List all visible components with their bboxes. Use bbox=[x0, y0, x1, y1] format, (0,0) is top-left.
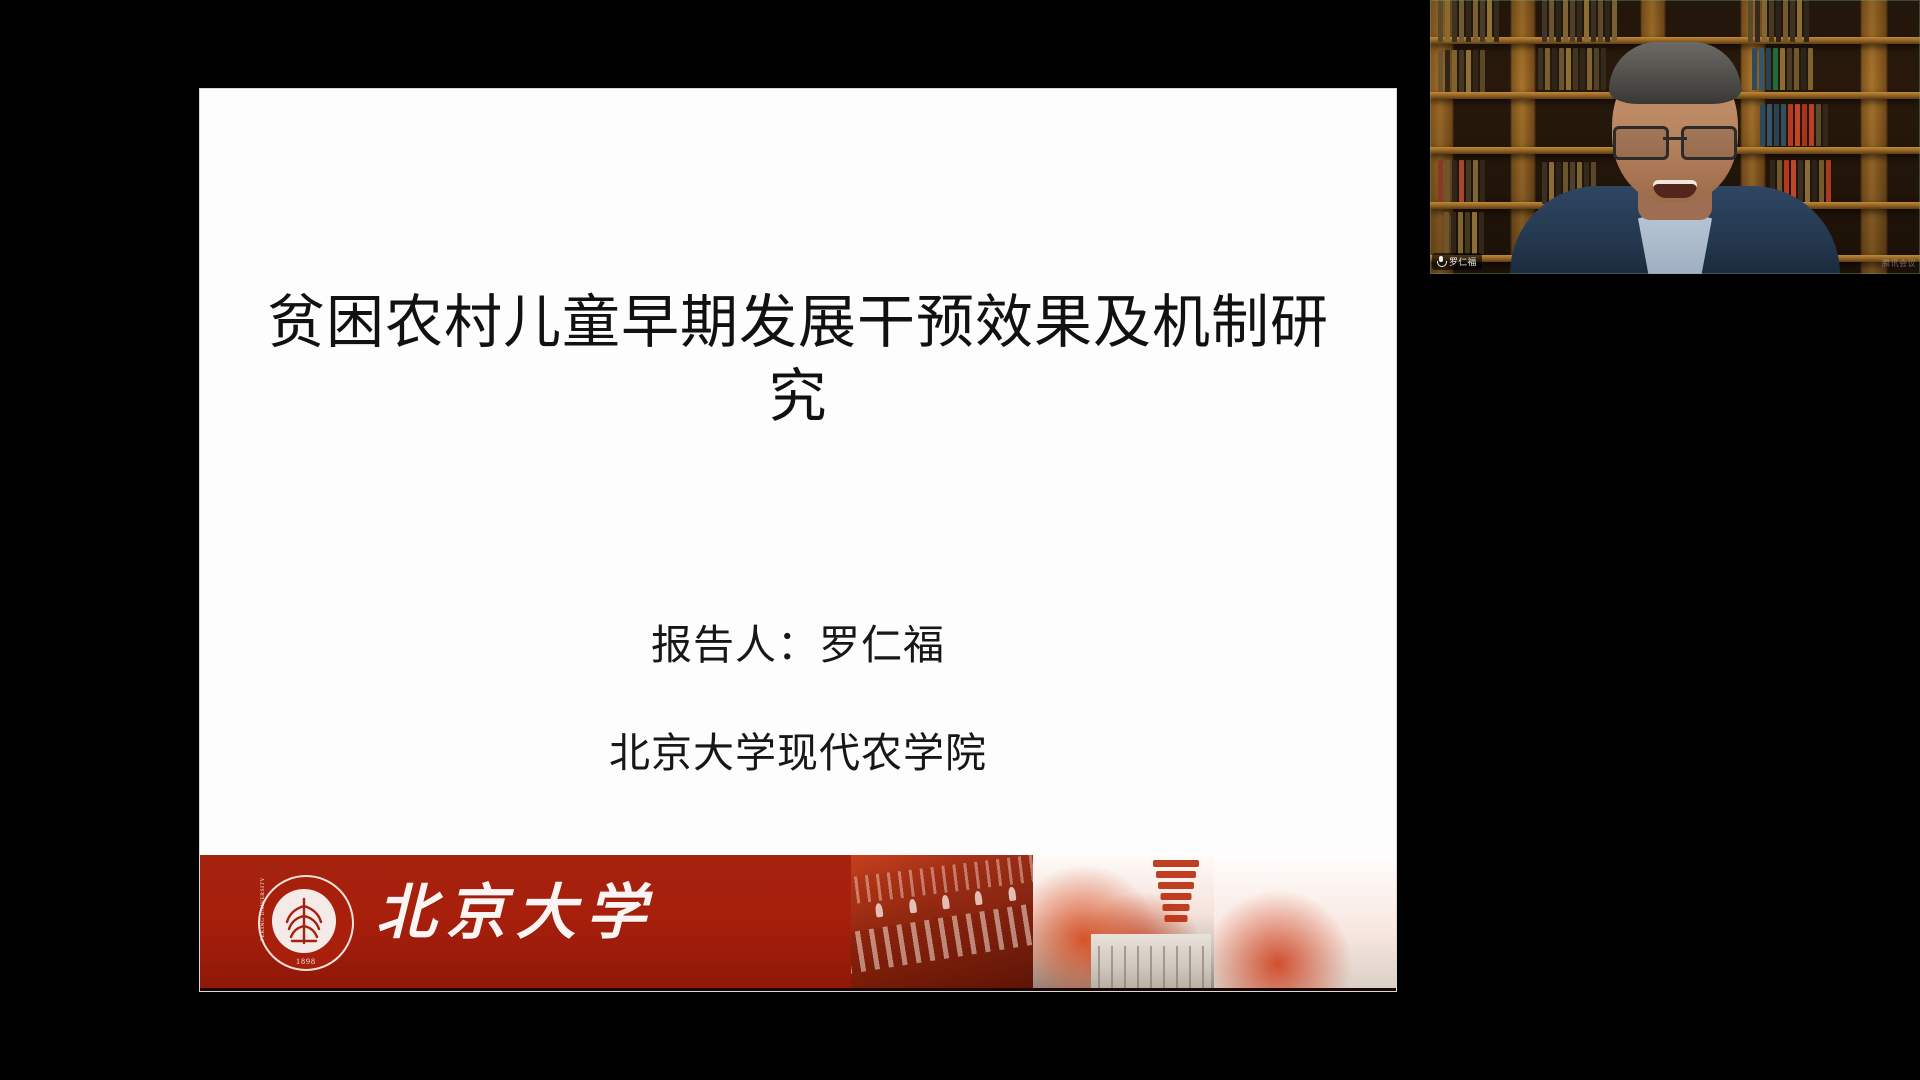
participant-name-label: 罗仁福 bbox=[1449, 255, 1477, 268]
book-row bbox=[1542, 0, 1638, 42]
book-row bbox=[1748, 0, 1836, 42]
slide-bottom-rule bbox=[200, 988, 1396, 991]
eyeglasses-icon bbox=[1613, 126, 1737, 156]
footer-photo-autumn-pagoda bbox=[1033, 855, 1215, 991]
microphone-icon bbox=[1437, 256, 1445, 267]
shared-slide[interactable]: 贫困农村儿童早期发展干预效果及机制研究 报告人：罗仁福 北京大学现代农学院 bbox=[200, 89, 1396, 991]
participant-video-thumbnail[interactable]: 罗仁福 腾讯会议 bbox=[1430, 0, 1920, 274]
book-row bbox=[1438, 50, 1504, 92]
participant-hair bbox=[1609, 42, 1741, 104]
book-row bbox=[1438, 160, 1504, 202]
participant-nametag: 罗仁福 bbox=[1432, 253, 1482, 270]
slide-presenter-line: 报告人：罗仁福 bbox=[260, 611, 1336, 671]
slide-title: 贫困农村儿童早期发展干预效果及机制研究 bbox=[260, 285, 1336, 433]
participant-mouth bbox=[1653, 180, 1697, 198]
campus-building-shape bbox=[1091, 934, 1211, 991]
participant-figure bbox=[1510, 44, 1840, 274]
pku-seal-year: 1898 bbox=[258, 957, 354, 966]
video-watermark: 腾讯会议 bbox=[1882, 258, 1916, 269]
footer-photo-temple-roof bbox=[851, 855, 1033, 991]
footer-photo-campus-sky bbox=[1214, 855, 1396, 991]
pku-wordmark: 北京大学 bbox=[376, 883, 656, 943]
slide-affiliation-line: 北京大学现代农学院 bbox=[260, 719, 1336, 779]
slide-footer-band: PEKING UNIVERSITY 1898 北京大学 bbox=[200, 855, 1396, 991]
slide-content-area: 贫困农村儿童早期发展干预效果及机制研究 报告人：罗仁福 北京大学现代农学院 bbox=[200, 89, 1396, 826]
footer-photo-montage bbox=[851, 855, 1396, 991]
roof-ridge-figures-icon bbox=[862, 883, 1030, 919]
pku-seal-ring-label: PEKING UNIVERSITY bbox=[260, 877, 266, 941]
screen-share-stage: 贫困农村儿童早期发展干预效果及机制研究 报告人：罗仁福 北京大学现代农学院 bbox=[0, 0, 1920, 1080]
book-row bbox=[1444, 212, 1504, 254]
pku-seal-icon: PEKING UNIVERSITY 1898 bbox=[258, 875, 354, 971]
book-row bbox=[1438, 0, 1504, 42]
